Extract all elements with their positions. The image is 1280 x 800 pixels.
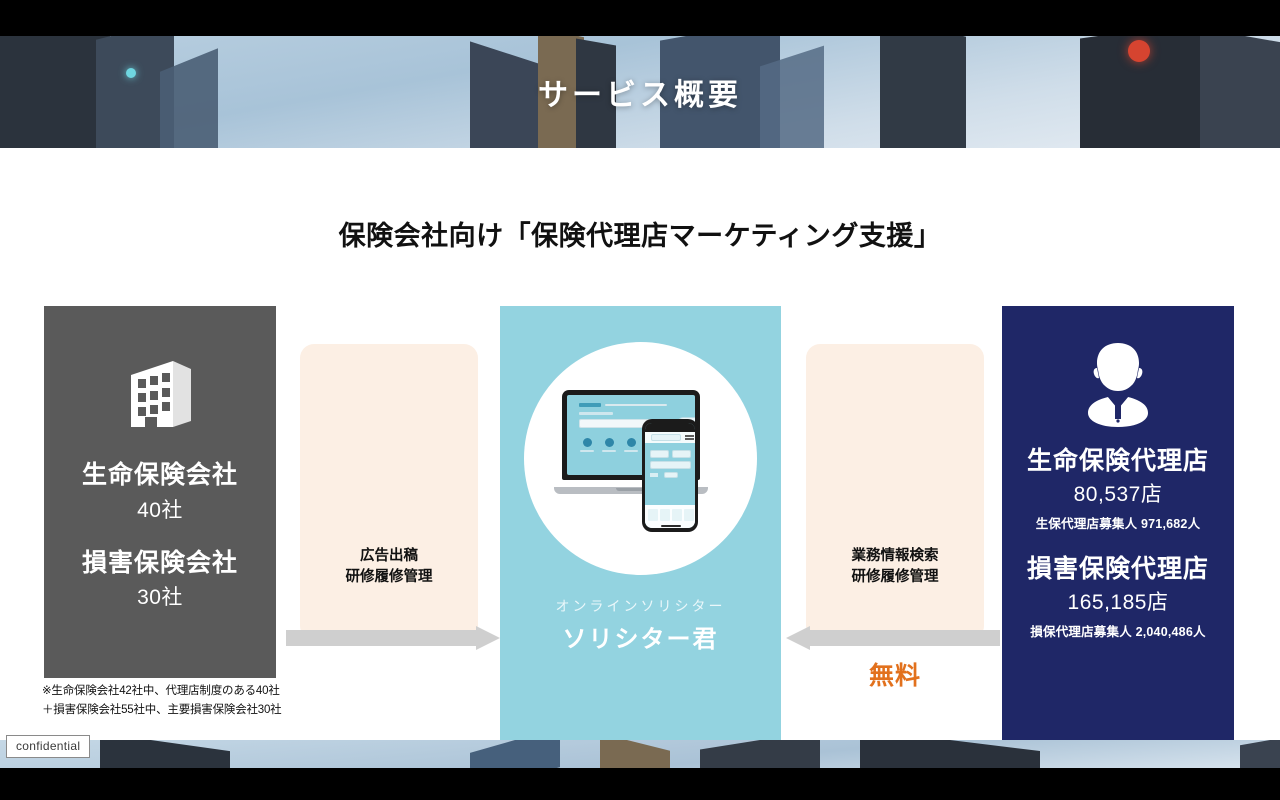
arrow-shaft [286, 630, 478, 646]
bottom-letterbox-bar [0, 768, 1280, 800]
page-title: サービス概要 [0, 36, 1280, 148]
flow-right-line-1: 研修履修管理 [806, 567, 984, 588]
left-row-0-value: 40社 [44, 497, 276, 524]
arrow-shaft [808, 630, 1000, 646]
slide: サービス概要 保険会社向け「保険代理店マーケティング支援」 [0, 0, 1280, 800]
flow-left-labels: 広告出稿 研修履修管理 [300, 546, 478, 588]
left-row-1-name: 損害保険会社 [44, 548, 276, 579]
flow-right-line-0: 業務情報検索 [806, 546, 984, 567]
panel-insurance-companies: 生命保険会社 40社 損害保険会社 30社 [44, 306, 276, 678]
person-agent-icon [1077, 339, 1159, 429]
flow-box-right: 業務情報検索 研修履修管理 [806, 344, 984, 640]
flow-left-line-1: 研修履修管理 [300, 567, 478, 588]
phone-screen [645, 423, 695, 528]
right-row-0-value: 80,537店 [1002, 481, 1234, 508]
header-banner: サービス概要 [0, 36, 1280, 148]
product-caption-small: オンラインソリシター [500, 596, 781, 616]
top-letterbox-bar [0, 0, 1280, 36]
product-caption-main: ソリシター君 [500, 619, 781, 654]
footnote: ※生命保険会社42社中、代理店制度のある40社 ＋損害保険会社55社中、主要損害… [42, 682, 342, 720]
footnote-line-2: ＋損害保険会社55社中、主要損害保険会社30社 [42, 701, 342, 720]
right-row-1-name: 損害保険代理店 [1002, 554, 1234, 585]
person-agent-icon-wrap [1002, 338, 1234, 430]
slide-body: 保険会社向け「保険代理店マーケティング支援」 [0, 148, 1280, 740]
left-row-1-value: 30社 [44, 584, 276, 611]
right-row-0-note: 生保代理店募集人 971,682人 [1002, 516, 1234, 532]
phone-mockup [642, 419, 698, 532]
left-row-0-name: 生命保険会社 [44, 460, 276, 491]
diagram-stage: 生命保険会社 40社 損害保険会社 30社 [0, 148, 1280, 740]
arrow-head [786, 626, 810, 650]
arrow-head [476, 626, 500, 650]
panel-service-product: オンラインソリシター ソリシター君 [500, 306, 781, 800]
confidential-badge: confidential [6, 735, 90, 758]
flow-right-labels: 業務情報検索 研修履修管理 [806, 546, 984, 588]
building-shape [1240, 740, 1280, 768]
right-row-1-value: 165,185店 [1002, 589, 1234, 616]
next-slide-preview [0, 740, 1280, 768]
arrow-right-icon [286, 626, 500, 650]
arrow-left-icon [786, 626, 1000, 650]
office-building-icon-wrap [44, 354, 276, 434]
office-building-icon [123, 355, 197, 433]
right-row-0-name: 生命保険代理店 [1002, 446, 1234, 477]
right-row-1-note: 損保代理店募集人 2,040,486人 [1002, 624, 1234, 640]
flow-box-left: 広告出稿 研修履修管理 [300, 344, 478, 640]
footnote-line-1: ※生命保険会社42社中、代理店制度のある40社 [42, 682, 342, 701]
panel-insurance-agencies: 生命保険代理店 80,537店 生保代理店募集人 971,682人 損害保険代理… [1002, 306, 1234, 800]
flow-left-line-0: 広告出稿 [300, 546, 478, 567]
free-badge: 無料 [806, 656, 984, 692]
